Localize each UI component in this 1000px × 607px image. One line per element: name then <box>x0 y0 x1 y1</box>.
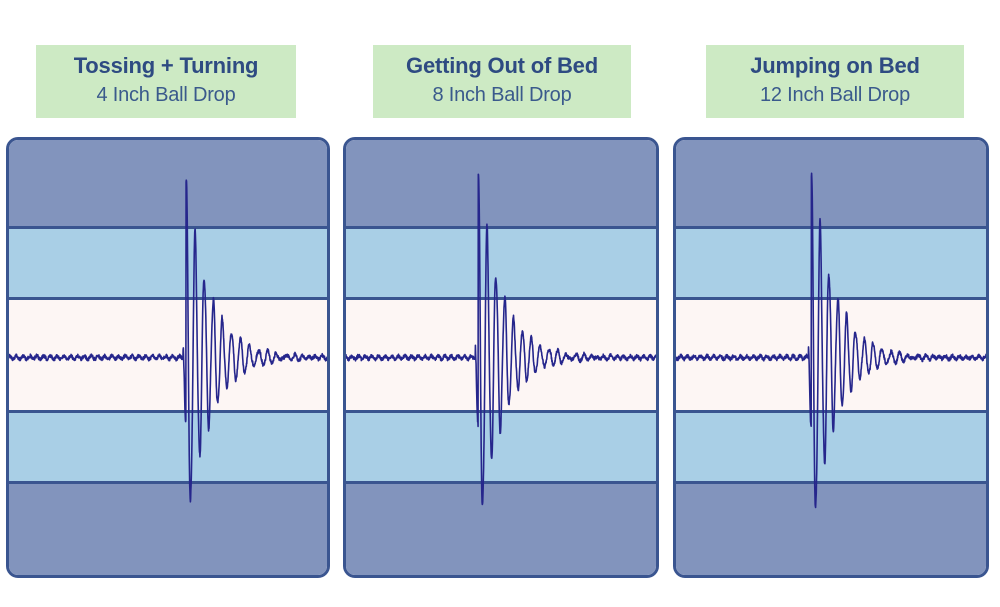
band-divider-2-getting-out-of-bed <box>346 297 656 300</box>
amplitude-band-inner-high-tossing-turning <box>9 227 327 299</box>
band-divider-3-jumping-on-bed <box>676 410 986 413</box>
amplitude-band-inner-high-getting-out-of-bed <box>346 227 656 299</box>
band-divider-1-getting-out-of-bed <box>346 226 656 229</box>
panel-title-jumping-on-bed: Jumping on Bed <box>750 51 920 81</box>
seismograph-card-getting-out-of-bed <box>343 137 659 578</box>
amplitude-band-outer-high-getting-out-of-bed <box>346 140 656 227</box>
amplitude-band-outer-low-jumping-on-bed <box>676 482 986 575</box>
band-divider-4-tossing-turning <box>9 481 327 484</box>
band-divider-2-tossing-turning <box>9 297 327 300</box>
panel-header-chip-tossing-turning: Tossing + Turning4 Inch Ball Drop <box>36 45 296 118</box>
band-divider-1-tossing-turning <box>9 226 327 229</box>
panel-header-chip-jumping-on-bed: Jumping on Bed12 Inch Ball Drop <box>706 45 964 118</box>
panel-header-chip-getting-out-of-bed: Getting Out of Bed8 Inch Ball Drop <box>373 45 631 118</box>
seismograph-card-tossing-turning <box>6 137 330 578</box>
infographic-root: Tossing + Turning4 Inch Ball DropGetting… <box>0 0 1000 607</box>
amplitude-band-center-tossing-turning <box>9 299 327 412</box>
amplitude-band-inner-low-tossing-turning <box>9 412 327 482</box>
panel-title-tossing-turning: Tossing + Turning <box>74 51 259 81</box>
panel-subtitle-getting-out-of-bed: 8 Inch Ball Drop <box>432 81 571 109</box>
amplitude-band-inner-low-jumping-on-bed <box>676 412 986 482</box>
band-divider-2-jumping-on-bed <box>676 297 986 300</box>
band-divider-1-jumping-on-bed <box>676 226 986 229</box>
amplitude-band-outer-high-tossing-turning <box>9 140 327 227</box>
seismograph-card-jumping-on-bed <box>673 137 989 578</box>
amplitude-band-center-getting-out-of-bed <box>346 299 656 412</box>
band-divider-4-getting-out-of-bed <box>346 481 656 484</box>
panel-subtitle-jumping-on-bed: 12 Inch Ball Drop <box>760 81 910 109</box>
panel-title-getting-out-of-bed: Getting Out of Bed <box>406 51 598 81</box>
panel-subtitle-tossing-turning: 4 Inch Ball Drop <box>96 81 235 109</box>
band-divider-4-jumping-on-bed <box>676 481 986 484</box>
amplitude-band-inner-high-jumping-on-bed <box>676 227 986 299</box>
amplitude-band-inner-low-getting-out-of-bed <box>346 412 656 482</box>
amplitude-band-outer-low-tossing-turning <box>9 482 327 575</box>
amplitude-band-outer-low-getting-out-of-bed <box>346 482 656 575</box>
band-divider-3-getting-out-of-bed <box>346 410 656 413</box>
band-divider-3-tossing-turning <box>9 410 327 413</box>
amplitude-band-center-jumping-on-bed <box>676 299 986 412</box>
amplitude-band-outer-high-jumping-on-bed <box>676 140 986 227</box>
